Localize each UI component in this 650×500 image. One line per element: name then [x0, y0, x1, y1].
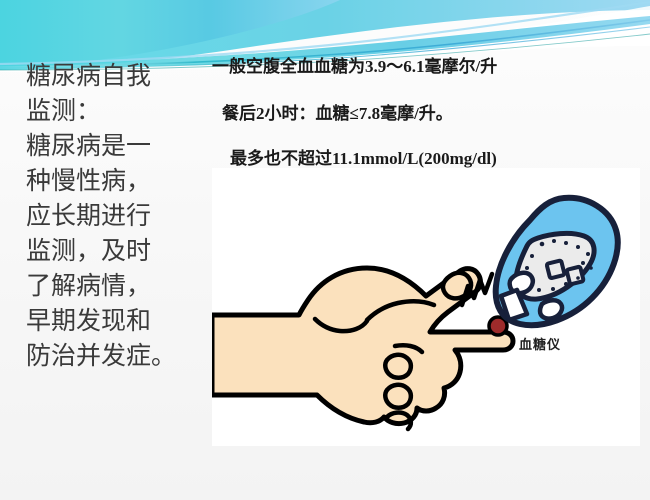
meter-caption-label: 血糖仪	[519, 334, 561, 353]
left-text-line: 了解病情，	[26, 268, 204, 303]
left-text-line: 防治并发症。	[26, 338, 204, 373]
left-text-line: 糖尿病是一	[26, 128, 204, 163]
left-text-line: 早期发现和	[26, 303, 204, 338]
maximum-glucose-fact: 最多也不超过11.1mmol/L(200mg/dl)	[230, 144, 642, 169]
slide-canvas: 糖尿病自我 监测： 糖尿病是一 种慢性病， 应长期进行 监测，及时 了解病情， …	[0, 0, 650, 500]
left-text-column: 糖尿病自我 监测： 糖尿病是一 种慢性病， 应长期进行 监测，及时 了解病情， …	[26, 58, 204, 373]
fasting-glucose-fact: 一般空腹全血血糖为3.9～6.1毫摩尔/升	[212, 52, 642, 77]
left-text-line: 监测，及时	[26, 233, 204, 268]
meter-screen-digit-1	[547, 260, 565, 278]
left-text-line: 监测：	[26, 93, 204, 128]
glucose-test-illustration: 血糖仪	[212, 168, 640, 446]
left-text-line: 糖尿病自我	[26, 58, 204, 93]
blood-glucose-facts: 一般空腹全血血糖为3.9～6.1毫摩尔/升 餐后2小时：血糖≤7.8毫摩/升。 …	[212, 52, 642, 169]
left-text-line: 种慢性病，	[26, 163, 204, 198]
left-text-line: 应长期进行	[26, 198, 204, 233]
meter-button-center	[540, 300, 562, 318]
postprandial-glucose-fact: 餐后2小时：血糖≤7.8毫摩/升。	[222, 99, 642, 124]
meter-screen-digit-2	[567, 267, 584, 285]
glucose-meter-graphic	[496, 198, 618, 325]
